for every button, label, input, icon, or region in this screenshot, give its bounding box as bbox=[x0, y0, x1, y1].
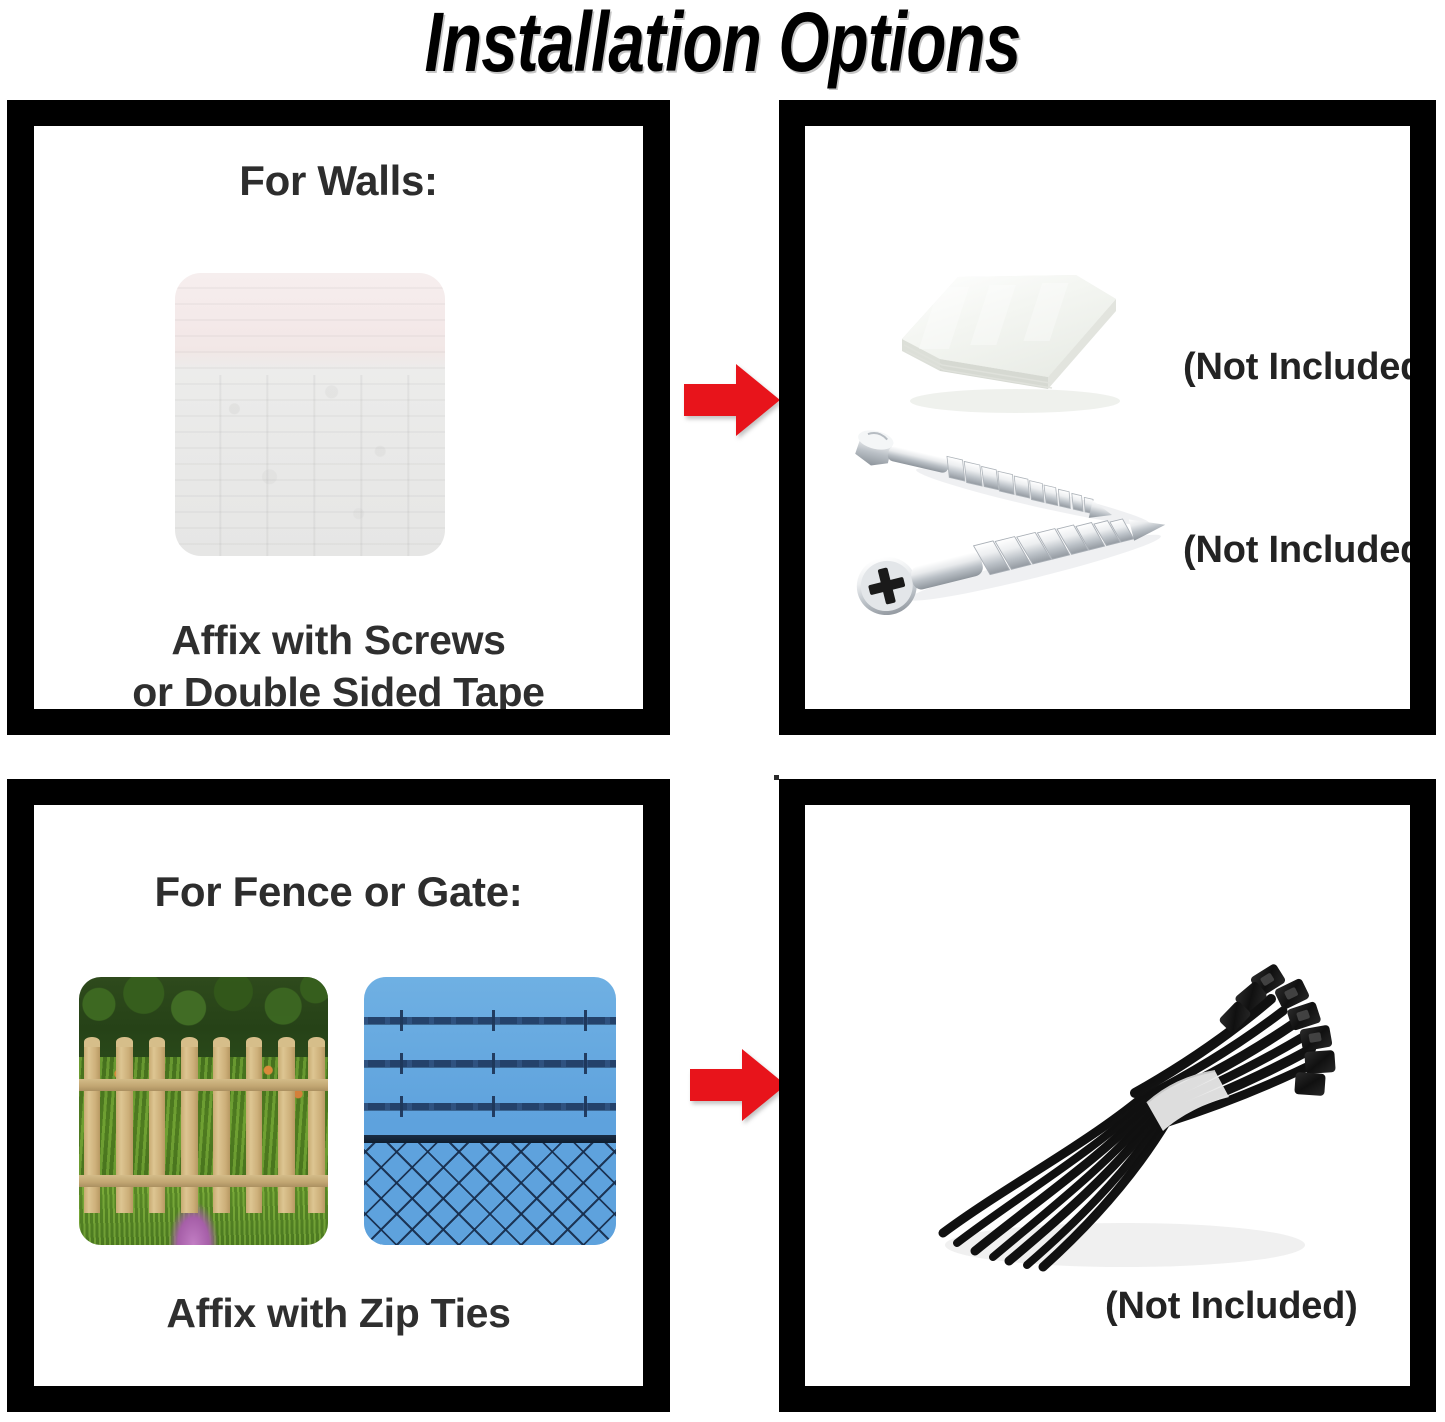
page-title: Installation Options bbox=[159, 0, 1286, 90]
panel-wall-hardware: (Not Included) bbox=[779, 100, 1436, 735]
black-zip-ties-bundle-image bbox=[885, 925, 1345, 1305]
wood-screws-image bbox=[835, 426, 1185, 636]
panel-for-walls-content: For Walls: Affix with Screws or Double S… bbox=[34, 126, 643, 709]
walls-heading: For Walls: bbox=[34, 156, 643, 206]
panel-fence-hardware-content: (Not Included) bbox=[805, 805, 1410, 1386]
picket-slats bbox=[79, 1041, 328, 1213]
double-sided-tape-stack-image bbox=[880, 241, 1128, 416]
panel-for-fence-or-gate: For Fence or Gate: bbox=[7, 779, 670, 1412]
zipties-not-included-label: (Not Included) bbox=[1105, 1283, 1358, 1329]
wall-speckle-texture bbox=[175, 273, 445, 556]
panel-fence-hardware: (Not Included) bbox=[779, 779, 1436, 1412]
arrow-right-icon bbox=[684, 362, 780, 438]
arrow-right-icon bbox=[690, 1047, 786, 1123]
fence-caption: Affix with Zip Ties bbox=[34, 1287, 643, 1339]
screws-not-included-label: (Not Included) bbox=[1183, 527, 1410, 573]
panel-for-fence-content: For Fence or Gate: bbox=[34, 805, 643, 1386]
walls-caption: Affix with Screws or Double Sided Tape bbox=[34, 614, 643, 709]
wooden-picket-fence-image bbox=[79, 977, 328, 1245]
walls-caption-line1: Affix with Screws bbox=[34, 614, 643, 666]
fence-caption-line1: Affix with Zip Ties bbox=[34, 1287, 643, 1339]
chain-link-fence-image bbox=[364, 977, 616, 1245]
chain-link-mesh bbox=[364, 1143, 616, 1245]
barbed-wire-strand-3 bbox=[364, 1103, 616, 1110]
panel-for-walls: For Walls: Affix with Screws or Double S… bbox=[7, 100, 670, 735]
fence-post bbox=[508, 1143, 513, 1245]
barbed-wire-strand-1 bbox=[364, 1017, 616, 1024]
walls-caption-line2: or Double Sided Tape bbox=[34, 666, 643, 709]
barbed-wire-strand-2 bbox=[364, 1060, 616, 1067]
white-brick-wall-image bbox=[175, 273, 445, 556]
panel-wall-hardware-content: (Not Included) bbox=[805, 126, 1410, 709]
fence-heading: For Fence or Gate: bbox=[34, 867, 643, 917]
tape-not-included-label: (Not Included) bbox=[1183, 344, 1410, 390]
